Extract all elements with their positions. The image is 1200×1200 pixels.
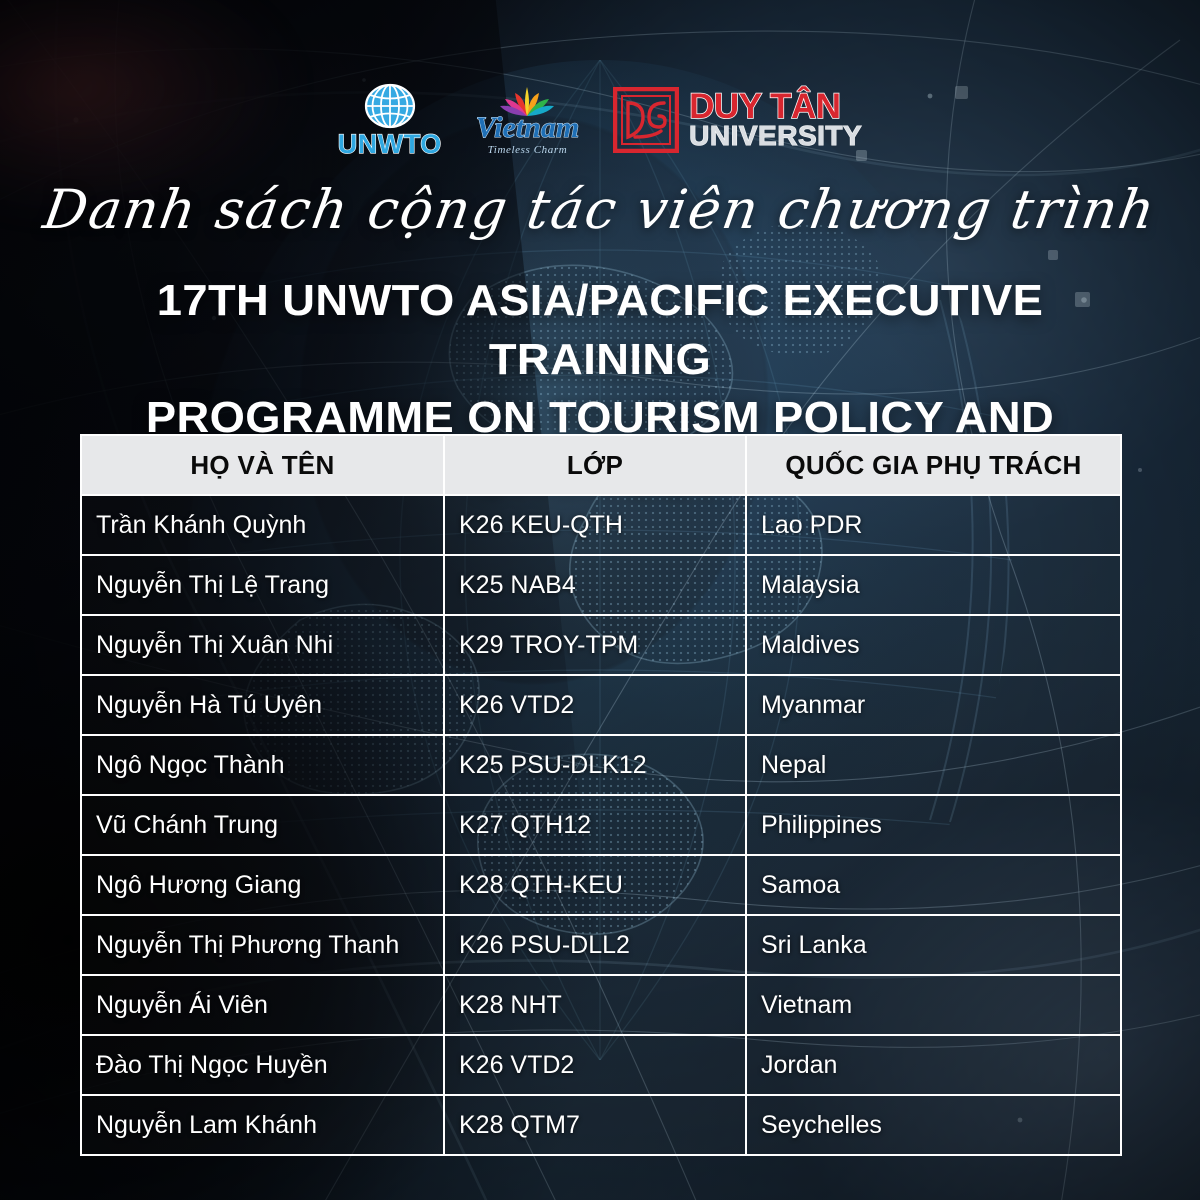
cell-class: K27 QTH12	[444, 795, 746, 855]
cell-name: Nguyễn Thị Lệ Trang	[81, 555, 444, 615]
cell-name: Trần Khánh Quỳnh	[81, 495, 444, 555]
table-row: Vũ Chánh TrungK27 QTH12Philippines	[81, 795, 1121, 855]
cell-class: K26 PSU-DLL2	[444, 915, 746, 975]
cell-country: Philippines	[746, 795, 1121, 855]
duytan-logo: DUY TÂN UNIVERSITY	[613, 87, 862, 153]
cell-class: K26 KEU-QTH	[444, 495, 746, 555]
vietnam-tagline: Timeless Charm	[488, 144, 568, 156]
cell-country: Malaysia	[746, 555, 1121, 615]
cell-class: K28 QTH-KEU	[444, 855, 746, 915]
duytan-mark-icon	[613, 87, 679, 153]
cell-country: Seychelles	[746, 1095, 1121, 1155]
cell-class: K25 NAB4	[444, 555, 746, 615]
cell-name: Ngô Hương Giang	[81, 855, 444, 915]
table-row: Trần Khánh QuỳnhK26 KEU-QTHLao PDR	[81, 495, 1121, 555]
poster-canvas: UNWTO Vietnam Timeless Charm	[0, 0, 1200, 1200]
table-row: Nguyễn Thị Phương ThanhK26 PSU-DLL2Sri L…	[81, 915, 1121, 975]
cell-country: Jordan	[746, 1035, 1121, 1095]
cell-country: Vietnam	[746, 975, 1121, 1035]
cell-class: K28 QTM7	[444, 1095, 746, 1155]
cell-class: K25 PSU-DLK12	[444, 735, 746, 795]
logo-row: UNWTO Vietnam Timeless Charm	[0, 82, 1200, 158]
cell-country: Sri Lanka	[746, 915, 1121, 975]
script-subtitle: Danh sách cộng tác viên chương trình	[0, 178, 1200, 241]
globe-icon	[364, 82, 416, 130]
table-row: Nguyễn Hà Tú UyênK26 VTD2Myanmar	[81, 675, 1121, 735]
table-row: Nguyễn Ái ViênK28 NHTVietnam	[81, 975, 1121, 1035]
cell-name: Nguyễn Lam Khánh	[81, 1095, 444, 1155]
table-row: Ngô Hương GiangK28 QTH-KEUSamoa	[81, 855, 1121, 915]
cell-name: Nguyễn Thị Phương Thanh	[81, 915, 444, 975]
table-row: Nguyễn Lam KhánhK28 QTM7Seychelles	[81, 1095, 1121, 1155]
cell-country: Maldives	[746, 615, 1121, 675]
cell-class: K26 VTD2	[444, 675, 746, 735]
cell-name: Nguyễn Hà Tú Uyên	[81, 675, 444, 735]
table-body: Trần Khánh QuỳnhK26 KEU-QTHLao PDRNguyễn…	[81, 495, 1121, 1155]
table-header-row: HỌ VÀ TÊN LỚP QUỐC GIA PHỤ TRÁCH	[81, 435, 1121, 495]
unwto-logo: UNWTO	[338, 82, 442, 158]
table-row: Nguyễn Thị Xuân NhiK29 TROY-TPMMaldives	[81, 615, 1121, 675]
cell-country: Lao PDR	[746, 495, 1121, 555]
cell-name: Vũ Chánh Trung	[81, 795, 444, 855]
main-title-line-1: 17TH UNWTO ASIA/PACIFIC EXECUTIVE TRAINI…	[44, 272, 1156, 389]
vietnam-logo: Vietnam Timeless Charm	[476, 85, 579, 156]
cell-country: Nepal	[746, 735, 1121, 795]
cell-country: Myanmar	[746, 675, 1121, 735]
cell-name: Nguyễn Thị Xuân Nhi	[81, 615, 444, 675]
cell-name: Ngô Ngọc Thành	[81, 735, 444, 795]
unwto-wordmark: UNWTO	[338, 131, 442, 158]
column-header-country: QUỐC GIA PHỤ TRÁCH	[746, 435, 1121, 495]
collaborators-table: HỌ VÀ TÊN LỚP QUỐC GIA PHỤ TRÁCH Trần Kh…	[80, 434, 1122, 1156]
vietnam-wordmark: Vietnam	[476, 113, 579, 143]
column-header-class: LỚP	[444, 435, 746, 495]
table-row: Nguyễn Thị Lệ TrangK25 NAB4Malaysia	[81, 555, 1121, 615]
cell-name: Đào Thị Ngọc Huyền	[81, 1035, 444, 1095]
duytan-wordmark-primary: DUY TÂN	[689, 91, 862, 124]
cell-country: Samoa	[746, 855, 1121, 915]
column-header-name: HỌ VÀ TÊN	[81, 435, 444, 495]
cell-class: K28 NHT	[444, 975, 746, 1035]
cell-class: K29 TROY-TPM	[444, 615, 746, 675]
table-head: HỌ VÀ TÊN LỚP QUỐC GIA PHỤ TRÁCH	[81, 435, 1121, 495]
cell-class: K26 VTD2	[444, 1035, 746, 1095]
table-row: Ngô Ngọc ThànhK25 PSU-DLK12Nepal	[81, 735, 1121, 795]
cell-name: Nguyễn Ái Viên	[81, 975, 444, 1035]
table-row: Đào Thị Ngọc HuyềnK26 VTD2Jordan	[81, 1035, 1121, 1095]
duytan-wordmark-secondary: UNIVERSITY	[689, 123, 862, 149]
